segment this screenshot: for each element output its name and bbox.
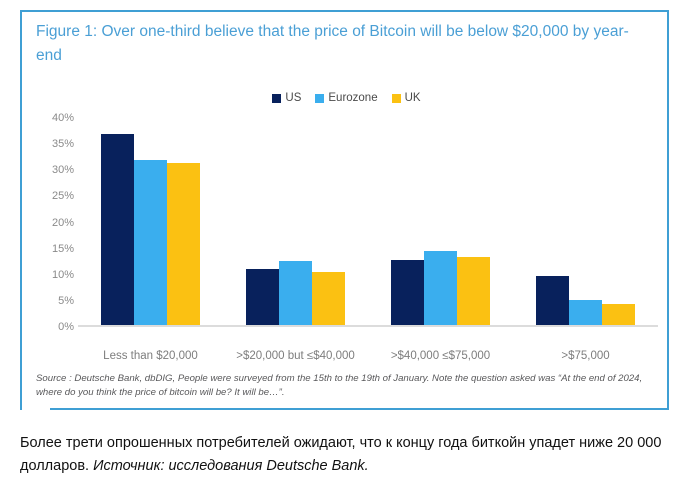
caption-source: Источник: исследования Deutsche Bank. xyxy=(93,458,369,474)
x-axis-tick-label: >$75,000 xyxy=(561,350,609,362)
bar-us[interactable] xyxy=(391,260,424,325)
x-axis-tick-label: Less than $20,000 xyxy=(103,350,198,362)
bar-groups xyxy=(78,116,658,325)
bar-group xyxy=(513,116,658,325)
y-axis-tick-label: 40% xyxy=(52,112,74,124)
bar-eurozone[interactable] xyxy=(134,160,167,325)
bar-eurozone[interactable] xyxy=(569,300,602,325)
x-axis-line xyxy=(78,325,658,327)
bar-group xyxy=(368,116,513,325)
source-note: Source : Deutsche Bank, dbDIG, People we… xyxy=(36,372,648,400)
x-axis-tick-label: >$20,000 but ≤$40,000 xyxy=(236,350,355,362)
y-axis: 40%35%30%25%20%15%10%5%0% xyxy=(30,118,74,327)
x-axis-labels: Less than $20,000>$20,000 but ≤$40,000>$… xyxy=(78,350,658,370)
y-axis-tick-label: 30% xyxy=(52,164,74,176)
bar-uk[interactable] xyxy=(312,272,345,325)
y-axis-tick-label: 0% xyxy=(58,321,74,333)
y-axis-tick-label: 25% xyxy=(52,190,74,202)
chart-plot-area: 40%35%30%25%20%15%10%5%0% Less than $20,… xyxy=(22,12,671,412)
caption-paragraph: Более трети опрошенных потребителей ожид… xyxy=(20,432,675,478)
figure-page: Figure 1: Over one-third believe that th… xyxy=(0,0,689,490)
bar-eurozone[interactable] xyxy=(279,261,312,325)
bar-eurozone[interactable] xyxy=(424,251,457,325)
bar-uk[interactable] xyxy=(167,163,200,325)
bar-uk[interactable] xyxy=(602,304,635,325)
y-axis-tick-label: 5% xyxy=(58,295,74,307)
bar-group xyxy=(78,116,223,325)
y-axis-tick-label: 35% xyxy=(52,138,74,150)
bar-group xyxy=(223,116,368,325)
bar-us[interactable] xyxy=(246,269,279,325)
y-axis-tick-label: 10% xyxy=(52,269,74,281)
bar-uk[interactable] xyxy=(457,257,490,325)
y-axis-tick-label: 20% xyxy=(52,217,74,229)
bar-us[interactable] xyxy=(101,134,134,325)
x-axis-tick-label: >$40,000 ≤$75,000 xyxy=(391,350,490,362)
bar-us[interactable] xyxy=(536,276,569,325)
y-axis-tick-label: 15% xyxy=(52,243,74,255)
figure-container: Figure 1: Over one-third believe that th… xyxy=(20,10,669,410)
